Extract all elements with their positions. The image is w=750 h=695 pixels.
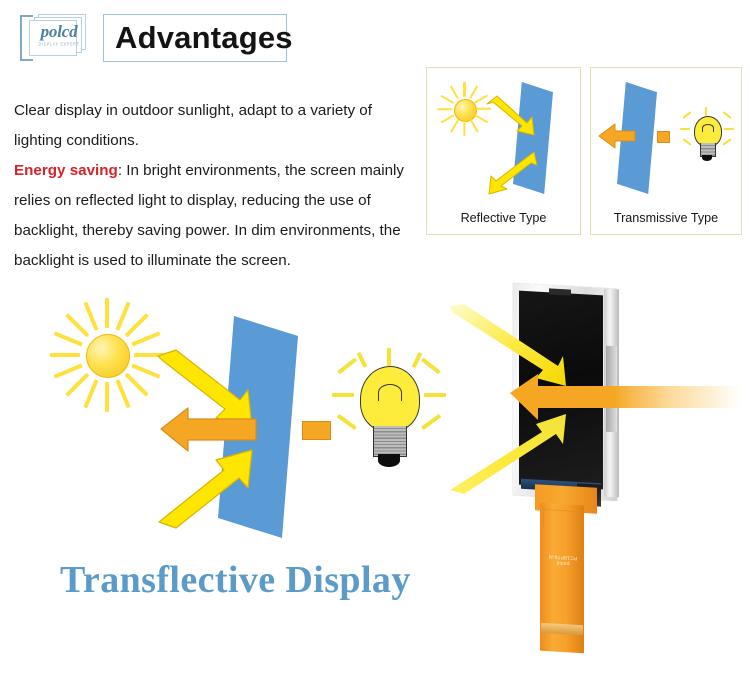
bulb-tip — [378, 454, 400, 467]
bulb-filament — [702, 124, 714, 132]
bulb-filament — [378, 384, 402, 401]
page-title: Advantages — [115, 17, 285, 59]
lcd-screen-glass — [519, 291, 603, 490]
display-panel-shape — [218, 316, 298, 538]
copy-keyword-energy-saving: Energy saving — [14, 162, 118, 179]
transflective-diagram — [30, 288, 450, 548]
bulb-base — [373, 426, 407, 457]
display-panel-shape — [617, 82, 657, 194]
transmissive-type-caption: Transmissive Type — [591, 211, 741, 225]
backlight-stub-icon — [657, 131, 670, 143]
reflective-type-caption: Reflective Type — [427, 211, 580, 225]
logo-wordmark: polcd — [28, 22, 90, 41]
light-bulb-icon — [330, 348, 450, 493]
reflective-type-illustration — [427, 68, 580, 206]
reflective-type-card: Reflective Type — [426, 67, 581, 235]
sun-icon — [437, 82, 491, 136]
copy-paragraph-2: Energy saving: In bright environments, t… — [14, 156, 414, 276]
fpc-printed-label: polcd PC18P70-N — [545, 553, 581, 567]
logo-text: polcd DISPLAY EXPERT — [28, 22, 90, 54]
lcd-top-tab — [549, 288, 571, 295]
logo-tagline: DISPLAY EXPERT — [28, 40, 90, 48]
light-bulb-icon — [679, 108, 733, 172]
backlight-glow — [611, 386, 741, 408]
backlight-stub-icon — [302, 421, 331, 440]
transflective-display-headline: Transflective Display — [60, 556, 460, 604]
sun-core — [86, 334, 130, 378]
display-panel-shape — [513, 82, 553, 194]
fpc-trace — [543, 509, 579, 528]
advantages-copy: Clear display in outdoor sunlight, adapt… — [14, 96, 414, 276]
transmissive-type-illustration — [591, 68, 741, 206]
copy-paragraph-1: Clear display in outdoor sunlight, adapt… — [14, 96, 414, 156]
lcd-module-photo: polcd PC18P70-N — [505, 286, 635, 666]
transmissive-type-card: Transmissive Type — [590, 67, 742, 235]
bulb-tip — [702, 155, 712, 161]
polcd-logo: polcd DISPLAY EXPERT — [24, 14, 96, 54]
sun-icon — [48, 296, 166, 414]
